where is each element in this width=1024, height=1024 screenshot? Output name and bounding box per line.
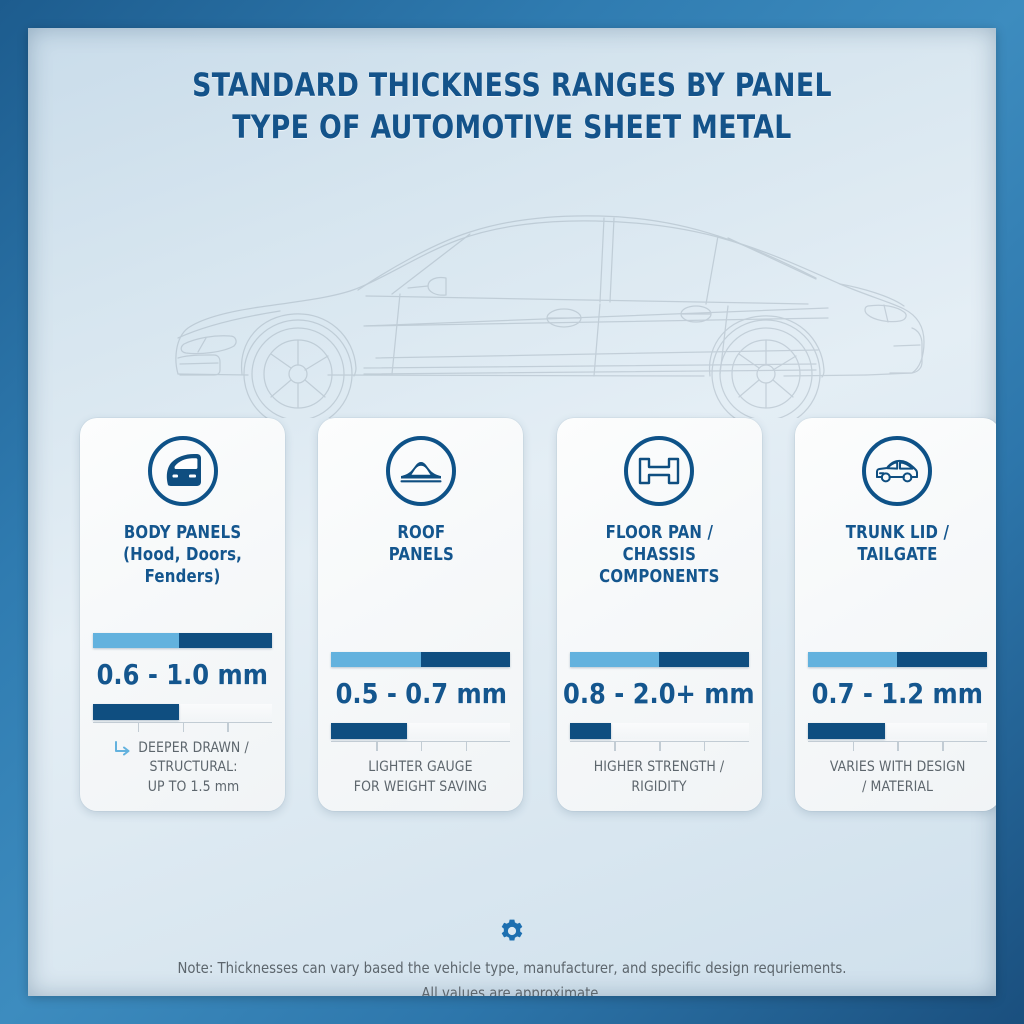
thickness-value: 0.5 - 0.7 mm [335,680,506,708]
title-line: TAILGATE [857,545,937,565]
thickness-value: 0.6 - 1.0 mm [97,661,268,689]
note-line: LIGHTER GAUGE [369,759,473,775]
note-line: UP TO 1.5 mm [148,779,240,795]
scale-tick [659,742,661,751]
card-note-row: DEEPER DRAWN / STRUCTURAL: UP TO 1.5 mm [93,739,272,797]
scale-track [331,723,510,739]
title-line: (Hood, Doors, [123,545,242,565]
title-line: COMPONENTS [599,567,719,587]
gear-icon [28,918,996,949]
range-bar-light-segment [93,633,179,648]
page-title-line-2: TYPE OF AUTOMOTIVE SHEET METAL [62,106,962,148]
note-line: FOR WEIGHT SAVING [354,779,487,795]
scale-tick [853,742,855,751]
thickness-scale [808,723,987,751]
scale-fill [570,723,611,739]
thickness-range-bar [93,633,272,648]
note-line: VARIES WITH DESIGN [830,759,966,775]
panel-card-title: TRUNK LID / TAILGATE [846,522,949,566]
note-line: HIGHER STRENGTH / [594,759,725,775]
scale-track [570,723,749,739]
page-title: STANDARD THICKNESS RANGES BY PANEL TYPE … [62,64,962,148]
note-line: RIGIDITY [632,779,687,795]
thickness-range-bar [570,652,749,667]
scale-fill [808,723,885,739]
footer-note-line-1: Note: Thicknesses can vary based the veh… [52,956,972,981]
range-bar-dark-segment [897,652,987,667]
range-bar-dark-segment [421,652,511,667]
panel-card-title: FLOOR PAN / CHASSIS COMPONENTS [599,522,719,589]
thickness-range-bar [331,652,510,667]
thickness-scale [570,723,749,751]
car-door-icon [148,436,218,506]
thickness-value: 0.8 - 2.0+ mm [563,680,755,708]
panel-card-title: BODY PANELS (Hood, Doors, Fenders) [123,522,242,589]
car-side-icon [862,436,932,506]
footer-note-line-2: All values are approximate. [52,981,972,996]
card-note-text: VARIES WITH DESIGN / MATERIAL [830,758,966,797]
note-line: DEEPER DRAWN / [138,740,248,756]
scale-tick [138,723,140,732]
panel-type-card-row: BODY PANELS (Hood, Doors, Fenders) 0.6 -… [80,418,996,811]
scale-tick [376,742,378,751]
panel-card-floor-pan-chassis[interactable]: FLOOR PAN / CHASSIS COMPONENTS 0.8 - 2.0… [557,418,762,811]
note-line: / MATERIAL [862,779,933,795]
thickness-scale [331,723,510,751]
title-line: Fenders) [145,567,221,587]
note-line: STRUCTURAL: [150,759,238,775]
panel-card-trunk-lid-tailgate[interactable]: TRUNK LID / TAILGATE 0.7 - 1.2 mm [795,418,996,811]
thickness-scale [93,704,272,732]
thickness-value: 0.7 - 1.2 mm [812,680,983,708]
range-bar-dark-segment [659,652,749,667]
card-note-text: DEEPER DRAWN / STRUCTURAL: UP TO 1.5 mm [138,739,248,797]
scale-fill [93,704,179,720]
car-side-wireframe-illustration [28,178,996,418]
scale-fill [331,723,406,739]
infographic-panel: STANDARD THICKNESS RANGES BY PANEL TYPE … [28,28,996,996]
infographic-frame: STANDARD THICKNESS RANGES BY PANEL TYPE … [0,0,1024,1024]
range-bar-light-segment [570,652,660,667]
title-line: TRUNK LID / [846,523,949,543]
scale-tick [421,742,423,751]
scale-tick [183,723,185,732]
card-note-row: VARIES WITH DESIGN / MATERIAL [808,758,987,797]
scale-tick [897,742,899,751]
panel-card-roof-panels[interactable]: ROOF PANELS 0.5 - 0.7 mm LIG [318,418,523,811]
card-note-row: LIGHTER GAUGE FOR WEIGHT SAVING [331,758,510,797]
range-bar-light-segment [331,652,421,667]
card-note-text: HIGHER STRENGTH / RIGIDITY [594,758,725,797]
title-line: FLOOR PAN / [605,523,713,543]
scale-tick [227,723,229,732]
range-bar-dark-segment [179,633,272,648]
footer-note: Note: Thicknesses can vary based the veh… [52,956,972,996]
scale-tick [704,742,706,751]
title-line: ROOF [397,523,445,543]
scale-axis [570,741,749,751]
scale-track [93,704,272,720]
car-roof-icon [386,436,456,506]
title-line: PANELS [388,545,453,565]
scale-tick [942,742,944,751]
scale-tick [614,742,616,751]
title-line: CHASSIS [622,545,696,565]
i-beam-icon [624,436,694,506]
page-title-line-1: STANDARD THICKNESS RANGES BY PANEL [192,66,832,104]
scale-track [808,723,987,739]
card-note-row: HIGHER STRENGTH / RIGIDITY [570,758,749,797]
arrow-down-right-icon [114,741,131,761]
title-line: BODY PANELS [124,523,242,543]
scale-tick [466,742,468,751]
scale-axis [808,741,987,751]
scale-axis [93,722,272,732]
panel-card-title: ROOF PANELS [388,522,453,566]
panel-card-body-panels[interactable]: BODY PANELS (Hood, Doors, Fenders) 0.6 -… [80,418,285,811]
thickness-range-bar [808,652,987,667]
card-note-text: LIGHTER GAUGE FOR WEIGHT SAVING [354,758,487,797]
scale-axis [331,741,510,751]
range-bar-light-segment [808,652,898,667]
